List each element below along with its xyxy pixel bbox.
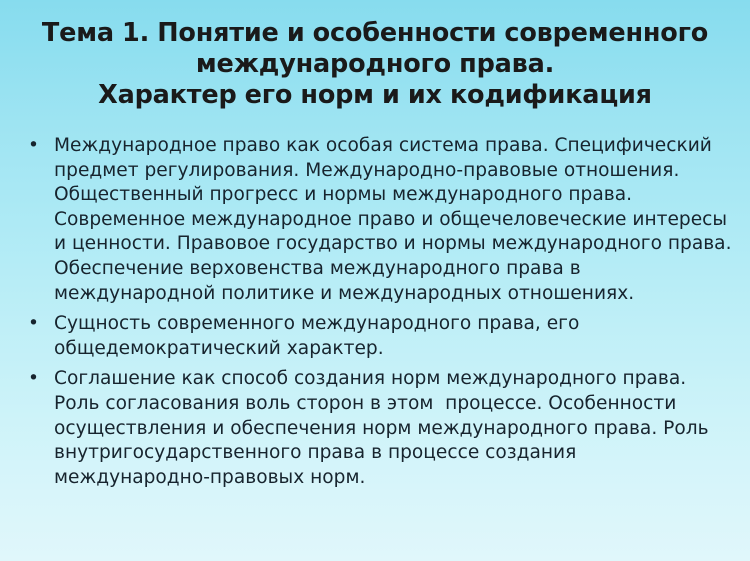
- list-item: • Международное право как особая система…: [18, 134, 734, 306]
- slide-bullet-list: • Международное право как особая система…: [18, 134, 734, 490]
- slide-title: Тема 1. Понятие и особенности современно…: [20, 18, 730, 111]
- list-item-text: Международное право как особая система п…: [54, 134, 734, 306]
- list-item-text: Сущность современного международного пра…: [54, 312, 734, 361]
- presentation-slide: Тема 1. Понятие и особенности современно…: [0, 0, 750, 561]
- list-item: • Сущность современного международного п…: [18, 312, 734, 361]
- slide-title-line-1: Тема 1. Понятие и особенности современно…: [20, 18, 730, 49]
- list-item-text: Соглашение как способ создания норм межд…: [54, 367, 734, 490]
- bullet-point-icon: •: [28, 134, 44, 159]
- slide-title-line-2: международного права.: [20, 49, 730, 80]
- slide-title-line-3: Характер его норм и их кодификация: [20, 80, 730, 111]
- bullet-point-icon: •: [28, 312, 44, 337]
- bullet-point-icon: •: [28, 367, 44, 392]
- list-item: • Соглашение как способ создания норм ме…: [18, 367, 734, 490]
